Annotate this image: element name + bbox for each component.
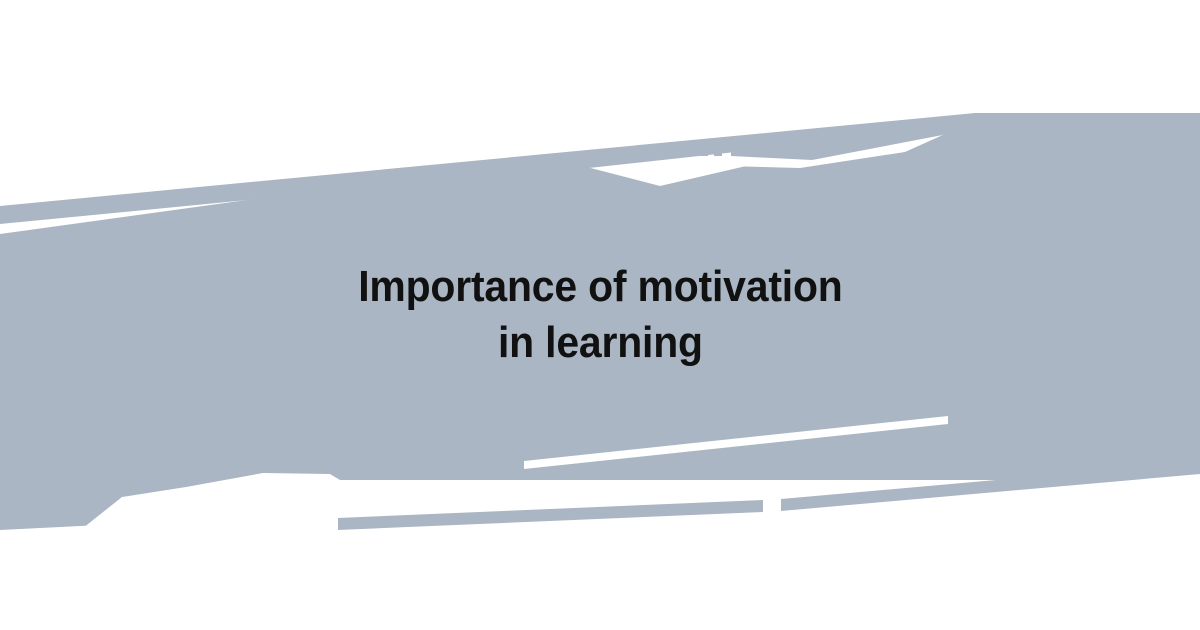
bottom-left-notch [0, 473, 1200, 630]
top-dash-small-2 [714, 140, 722, 156]
banner-card: Importance of motivation in learning [0, 0, 1200, 630]
decorative-background-artwork [0, 0, 1200, 630]
angled-banner-slab [0, 113, 1200, 530]
top-dash-small-1 [698, 141, 708, 156]
